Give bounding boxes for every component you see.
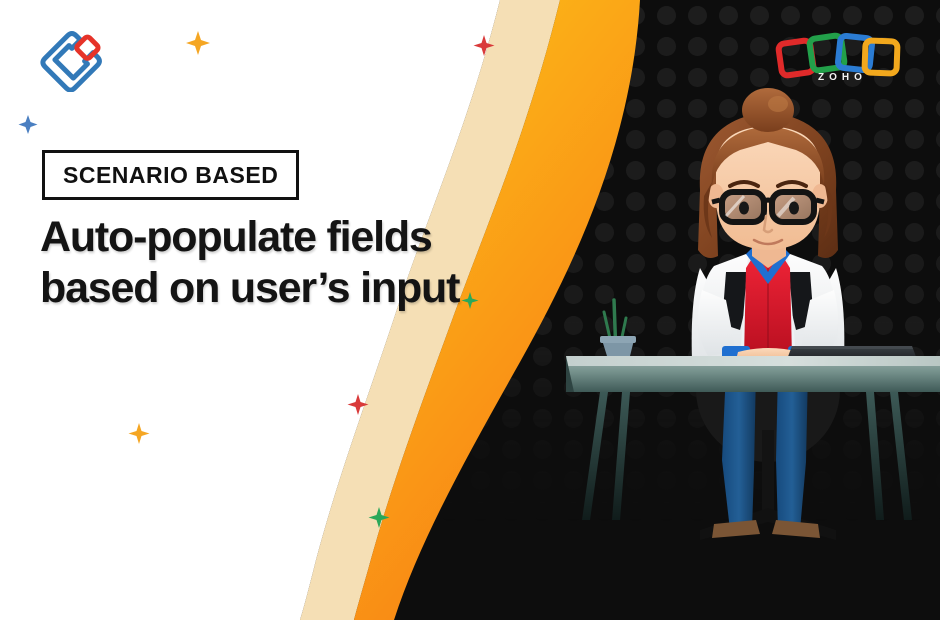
scenario-badge: SCENARIO BASED (42, 150, 299, 200)
headline-line-1: Auto-populate fields (40, 212, 510, 263)
sparkle-red-mid (348, 394, 369, 415)
page-title: Auto-populate fields based on user’s inp… (40, 212, 510, 313)
zoho-wordmark: ZOHO (775, 72, 905, 83)
sparkle-orange-top (186, 31, 210, 55)
sparkle-red-top (474, 35, 495, 56)
headline-line-2: based on user’s input (40, 263, 510, 314)
sparkle-green-low (369, 507, 390, 528)
scenario-badge-label: SCENARIO BASED (63, 164, 278, 187)
brand-logo-icon[interactable] (38, 26, 110, 92)
sparkle-orange-low (129, 423, 150, 444)
sparkle-blue-left (19, 115, 38, 134)
banner-root: SCENARIO BASED Auto-populate fields base… (0, 0, 940, 620)
